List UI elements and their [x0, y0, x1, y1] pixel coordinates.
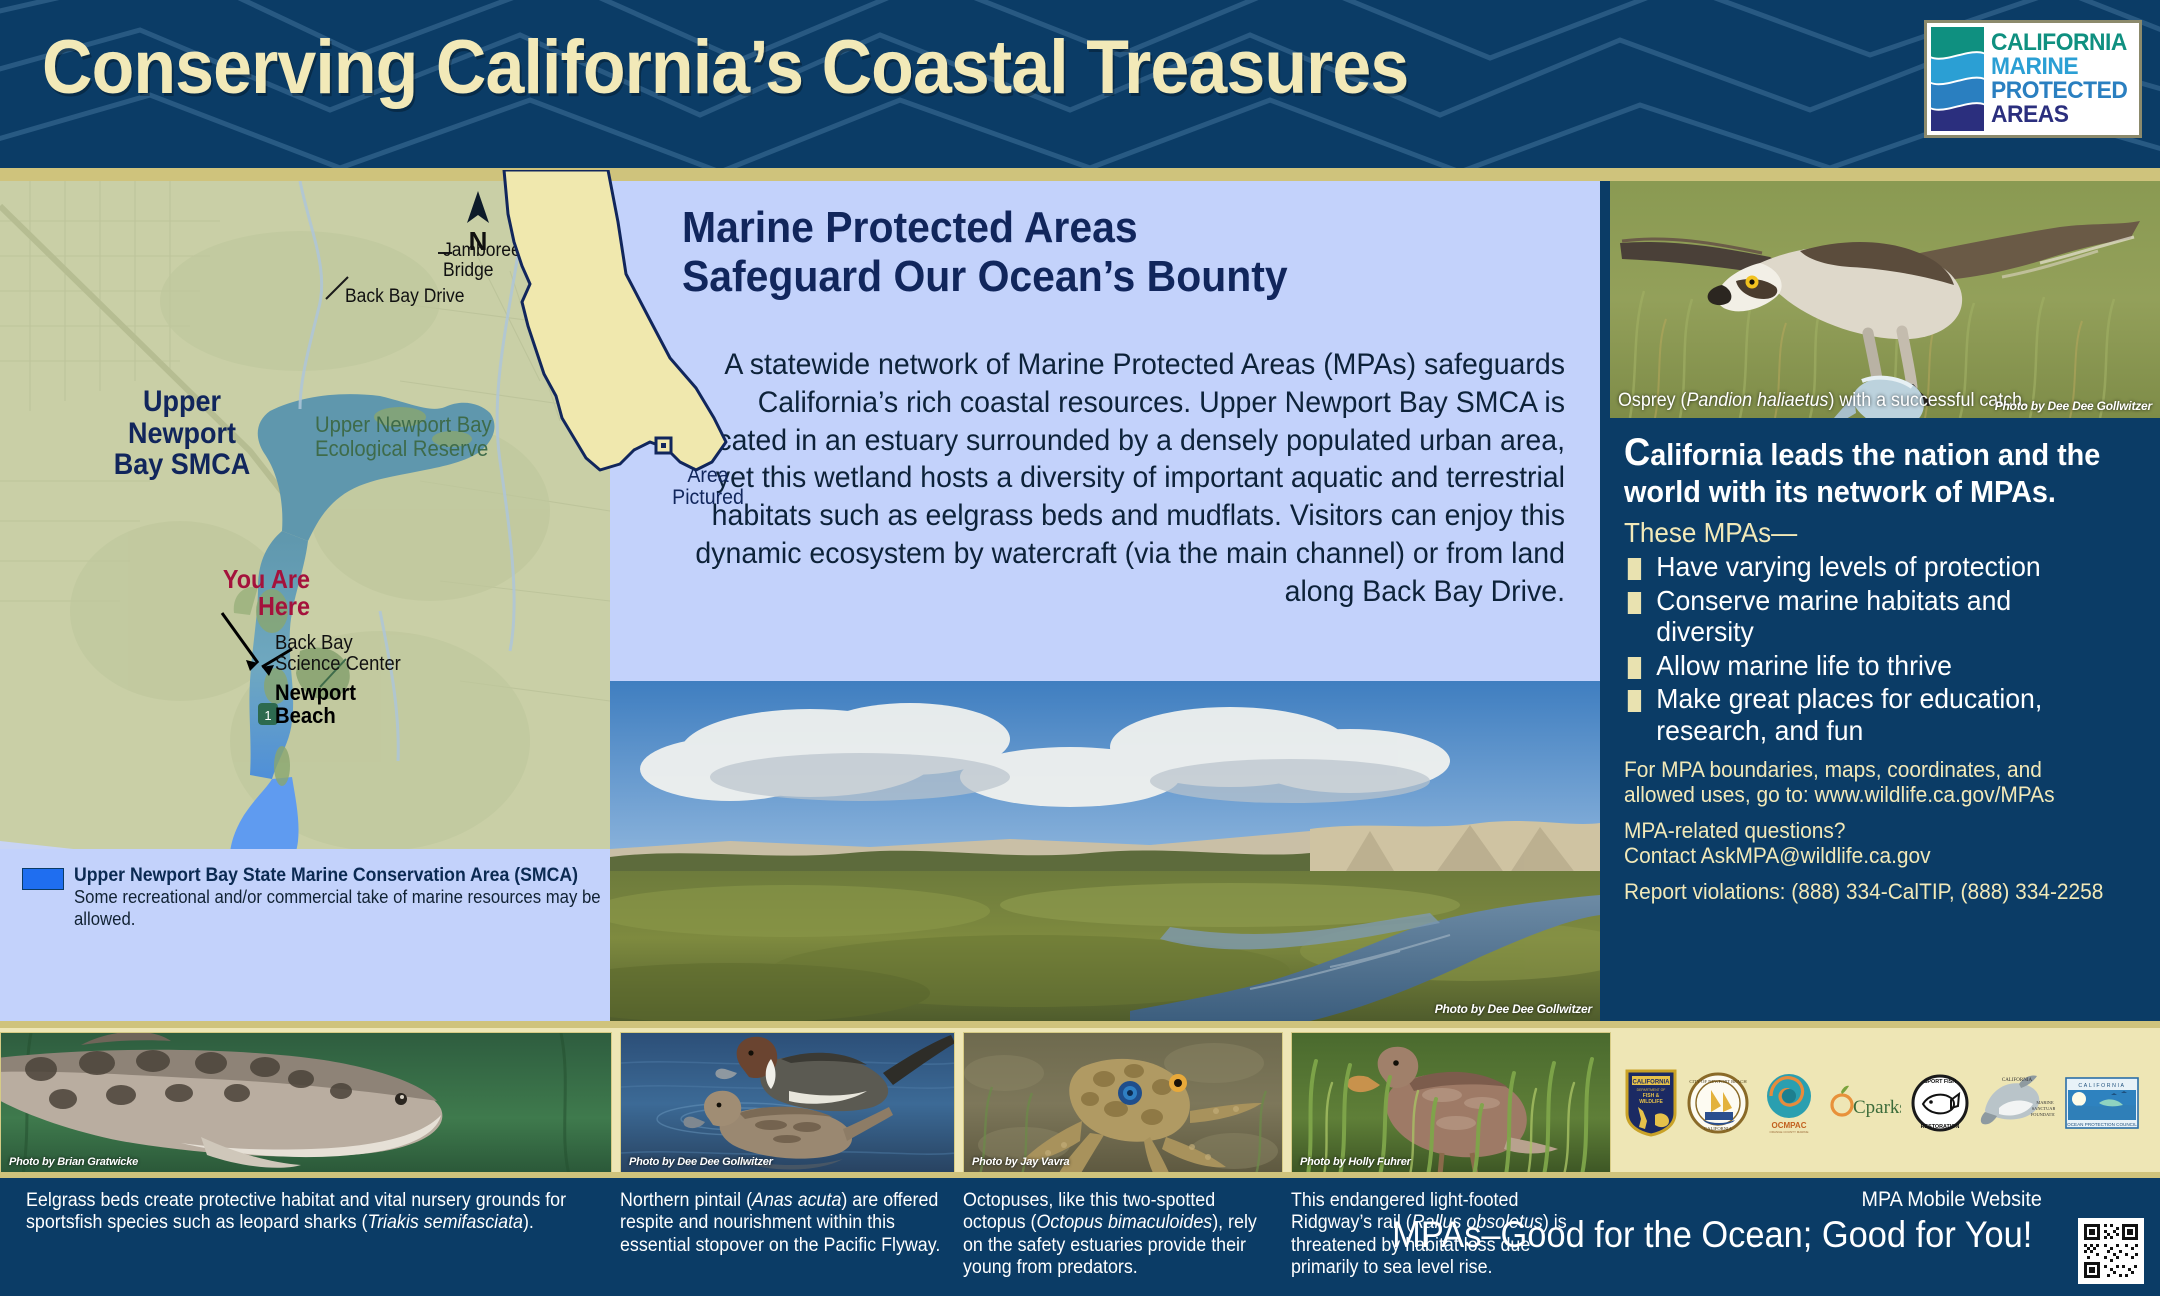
- map-legend: Upper Newport Bay State Marine Conservat…: [0, 849, 610, 1021]
- compass-arrow-icon: [463, 191, 493, 225]
- header-bar: Conserving California’s Coastal Treasure…: [0, 0, 2160, 168]
- bullet-square-icon: [1628, 558, 1641, 580]
- list-item: Conserve marine habitats and diversity: [1624, 585, 2114, 648]
- svg-text:ORANGE COUNTY MARINE: ORANGE COUNTY MARINE: [1770, 1130, 1809, 1134]
- ridgways-rail-photo-credit: Photo by Holly Fuhrer: [1300, 1156, 1411, 1168]
- bullet-square-icon: [1628, 657, 1641, 679]
- list-item: Have varying levels of protection: [1624, 551, 2114, 583]
- qr-code[interactable]: [2078, 1218, 2144, 1284]
- osprey-caption: Osprey (Pandion haliaetus) with a succes…: [1618, 391, 2027, 412]
- intro-heading: Marine Protected Areas Safeguard Our Oce…: [682, 203, 1519, 302]
- mpa-boundaries-info: For MPA boundaries, maps, coordinates, a…: [1624, 757, 2114, 808]
- partner-logo-city-of-newport-beach: CITY OF NEWPORT BEACH CALIFORNIA: [1687, 1072, 1749, 1134]
- northern-pintail-photo-credit: Photo by Dee Dee Gollwitzer: [629, 1156, 773, 1168]
- bullet-text: Conserve marine habitats and diversity: [1656, 585, 2114, 648]
- city-of-newport-beach-seal-icon: CITY OF NEWPORT BEACH CALIFORNIA: [1687, 1072, 1749, 1134]
- mpa-bullets-intro: These MPAs—: [1624, 517, 2104, 549]
- marine-sanctuary-foundation-whale-icon: CALIFORNIA MARINE SANCTUARY FOUNDATION: [1979, 1072, 2055, 1134]
- osprey-caption-species: Pandion haliaetus: [1686, 390, 1828, 411]
- northern-pintail-graphic: [621, 1033, 955, 1174]
- osprey-caption-prefix: Osprey (: [1618, 390, 1686, 411]
- partner-logo-california-ocean-protection-council: CALIFORNIA OCEAN PROTECTION COUNCIL: [2065, 1077, 2139, 1129]
- legend-description: Some recreational and/or commercial take…: [74, 887, 610, 929]
- intro-body-text: A statewide network of Marine Protected …: [686, 346, 1565, 611]
- partner-logo-california-marine-sanctuary-foundation: CALIFORNIA MARINE SANCTUARY FOUNDATION: [1979, 1072, 2055, 1134]
- svg-text:MARINE: MARINE: [2036, 1100, 2054, 1105]
- leopard-shark-graphic: [1, 1033, 612, 1174]
- partner-logo-oc-parks: Cparks: [1829, 1083, 1901, 1123]
- leopard-shark-photo-credit: Photo by Brian Gratwicke: [9, 1156, 138, 1168]
- svg-text:SANCTUARY: SANCTUARY: [2032, 1106, 2055, 1111]
- caption-part-italic: Triakis semifasciata: [367, 1212, 522, 1233]
- svg-text:CITY OF NEWPORT BEACH: CITY OF NEWPORT BEACH: [1689, 1079, 1747, 1084]
- page-title: Conserving California’s Coastal Treasure…: [42, 24, 1408, 111]
- qr-code-icon[interactable]: [2082, 1222, 2140, 1280]
- svg-text:DEPARTMENT OF: DEPARTMENT OF: [1637, 1088, 1666, 1092]
- leopard-shark-photo: Photo by Brian Gratwicke: [0, 1032, 612, 1174]
- intro-body-paragraph: A statewide network of Marine Protected …: [686, 346, 1565, 611]
- cdfw-shield-icon: CALIFORNIA DEPARTMENT OF FISH & WILDLIFE: [1625, 1069, 1677, 1137]
- svg-text:OCMPAC: OCMPAC: [1772, 1121, 1807, 1130]
- legend-title: Upper Newport Bay State Marine Conservat…: [74, 865, 610, 886]
- intro-heading-line2: Safeguard Our Ocean’s Bounty: [682, 252, 1519, 301]
- svg-text:CALIFORNIA: CALIFORNIA: [2078, 1083, 2125, 1089]
- mpa-info-headline: California leads the nation and the worl…: [1624, 432, 2104, 509]
- north-arrow: N: [455, 191, 501, 257]
- oc-parks-icon: Cparks: [1829, 1083, 1901, 1123]
- caption-leopard-shark: Eelgrass beds create protective habitat …: [26, 1190, 581, 1235]
- osprey-photo-credit: Photo by Dee Dee Gollwitzer: [1995, 399, 2152, 413]
- mpa-benefits-list: Have varying levels of protection Conser…: [1624, 551, 2140, 747]
- svg-text:CALIFORNIA: CALIFORNIA: [1704, 1126, 1733, 1131]
- list-item: Allow marine life to thrive: [1624, 650, 2114, 682]
- caption-northern-pintail: Northern pintail (Anas acuta) are offere…: [620, 1190, 944, 1257]
- wetland-landscape-photo: Photo by Dee Dee Gollwitzer: [610, 681, 1600, 1021]
- partner-logos-row: CALIFORNIA DEPARTMENT OF FISH & WILDLIFE…: [1625, 1048, 2145, 1158]
- logo-line-marine: MARINE: [1991, 55, 2127, 79]
- north-label: N: [455, 226, 501, 257]
- intro-panel: Marine Protected Areas Safeguard Our Oce…: [610, 181, 1600, 1021]
- footer-tagline: MPAs–Good for the Ocean; Good for You!: [1392, 1214, 2032, 1256]
- species-photo-strip: Photo by Brian Gratwicke: [0, 1028, 2160, 1178]
- header-divider-rule: [0, 168, 2160, 181]
- svg-text:CALIFORNIA: CALIFORNIA: [2002, 1078, 2033, 1083]
- two-spotted-octopus-photo-credit: Photo by Jay Vavra: [972, 1156, 1069, 1168]
- caption-part-italic: Anas acuta: [752, 1190, 841, 1211]
- svg-text:Cparks: Cparks: [1853, 1097, 1901, 1118]
- svg-text:CALIFORNIA: CALIFORNIA: [1633, 1080, 1671, 1086]
- mpa-mobile-website-label: MPA Mobile Website: [1862, 1188, 2042, 1212]
- bullet-text: Make great places for education, researc…: [1656, 683, 2114, 746]
- headline-dropcap: C: [1624, 431, 1650, 474]
- area-pictured-label: Area Pictured: [666, 465, 750, 509]
- legend-color-swatch-smca: [22, 868, 64, 890]
- svg-text:FOUNDATION: FOUNDATION: [2031, 1112, 2055, 1117]
- footer-captions-bar: Eelgrass beds create protective habitat …: [0, 1178, 2160, 1296]
- svg-text:RESTORATION: RESTORATION: [1921, 1124, 1960, 1130]
- mpa-contact-info: MPA-related questions? Contact AskMPA@wi…: [1624, 818, 2114, 869]
- ridgways-rail-graphic: [1292, 1033, 1611, 1174]
- two-spotted-octopus-photo: Photo by Jay Vavra: [963, 1032, 1283, 1174]
- list-item: Make great places for education, researc…: [1624, 683, 2114, 746]
- ocmpac-icon: OCMPAC ORANGE COUNTY MARINE: [1759, 1070, 1819, 1136]
- bullet-square-icon: [1628, 690, 1641, 712]
- mpa-info-panel: Osprey (Pandion haliaetus) with a succes…: [1600, 181, 2160, 1021]
- svg-text:OCEAN PROTECTION COUNCIL: OCEAN PROTECTION COUNCIL: [2067, 1122, 2137, 1127]
- location-map[interactable]: 1 N Upper Newport Bay SMCA Upper Newport…: [0, 181, 610, 1021]
- osprey-photo: Osprey (Pandion haliaetus) with a succes…: [1610, 181, 2160, 418]
- ridgways-rail-photo: Photo by Holly Fuhrer: [1291, 1032, 1611, 1174]
- headline-rest: alifornia leads the nation and the world…: [1624, 437, 2100, 509]
- sport-fish-restoration-icon: SPORT FISH RESTORATION: [1911, 1074, 1969, 1132]
- partner-logo-ocmpac: OCMPAC ORANGE COUNTY MARINE: [1759, 1070, 1819, 1136]
- main-content-row: 1 N Upper Newport Bay SMCA Upper Newport…: [0, 181, 2160, 1021]
- bullet-square-icon: [1628, 592, 1641, 614]
- wetland-photo-graphic: [610, 681, 1600, 1021]
- caption-two-spotted-octopus: Octopuses, like this two-spotted octopus…: [963, 1190, 1273, 1280]
- svg-text:WILDLIFE: WILDLIFE: [1639, 1099, 1663, 1105]
- partner-logo-california-department-of-fish-and-wildlife: CALIFORNIA DEPARTMENT OF FISH & WILDLIFE: [1625, 1069, 1677, 1137]
- wetland-photo-credit: Photo by Dee Dee Gollwitzer: [1435, 1002, 1592, 1016]
- northern-pintail-photo: Photo by Dee Dee Gollwitzer: [620, 1032, 955, 1174]
- logo-line-areas: AREAS: [1991, 103, 2127, 127]
- mpa-info-content: California leads the nation and the worl…: [1600, 418, 2160, 904]
- caption-part-italic: Octopus bimaculoides: [1036, 1212, 1212, 1233]
- california-marine-protected-areas-logo: CALIFORNIA MARINE PROTECTED AREAS: [1924, 20, 2142, 138]
- logo-line-california: CALIFORNIA: [1991, 31, 2127, 55]
- logo-waves-icon: [1931, 27, 1984, 131]
- partner-logo-sport-fish-restoration: SPORT FISH RESTORATION: [1911, 1074, 1969, 1132]
- two-spotted-octopus-graphic: [964, 1033, 1283, 1174]
- osprey-photo-graphic: [1610, 181, 2160, 418]
- bullet-text: Have varying levels of protection: [1656, 551, 2040, 583]
- svg-text:SPORT FISH: SPORT FISH: [1924, 1079, 1956, 1085]
- svg-text:1: 1: [264, 708, 271, 723]
- mpa-report-violations: Report violations: (888) 334-CalTIP, (88…: [1624, 879, 2114, 905]
- ocean-protection-council-icon: CALIFORNIA OCEAN PROTECTION COUNCIL: [2065, 1077, 2139, 1129]
- intro-heading-line1: Marine Protected Areas: [682, 203, 1519, 252]
- logo-wordmark: CALIFORNIA MARINE PROTECTED AREAS: [1984, 27, 2135, 131]
- caption-part: Northern pintail (: [620, 1190, 752, 1211]
- bullet-text: Allow marine life to thrive: [1656, 650, 1952, 682]
- logo-line-protected: PROTECTED: [1991, 79, 2127, 103]
- caption-part: ).: [523, 1212, 534, 1233]
- interpretive-sign-panel: Conserving California’s Coastal Treasure…: [0, 0, 2160, 1296]
